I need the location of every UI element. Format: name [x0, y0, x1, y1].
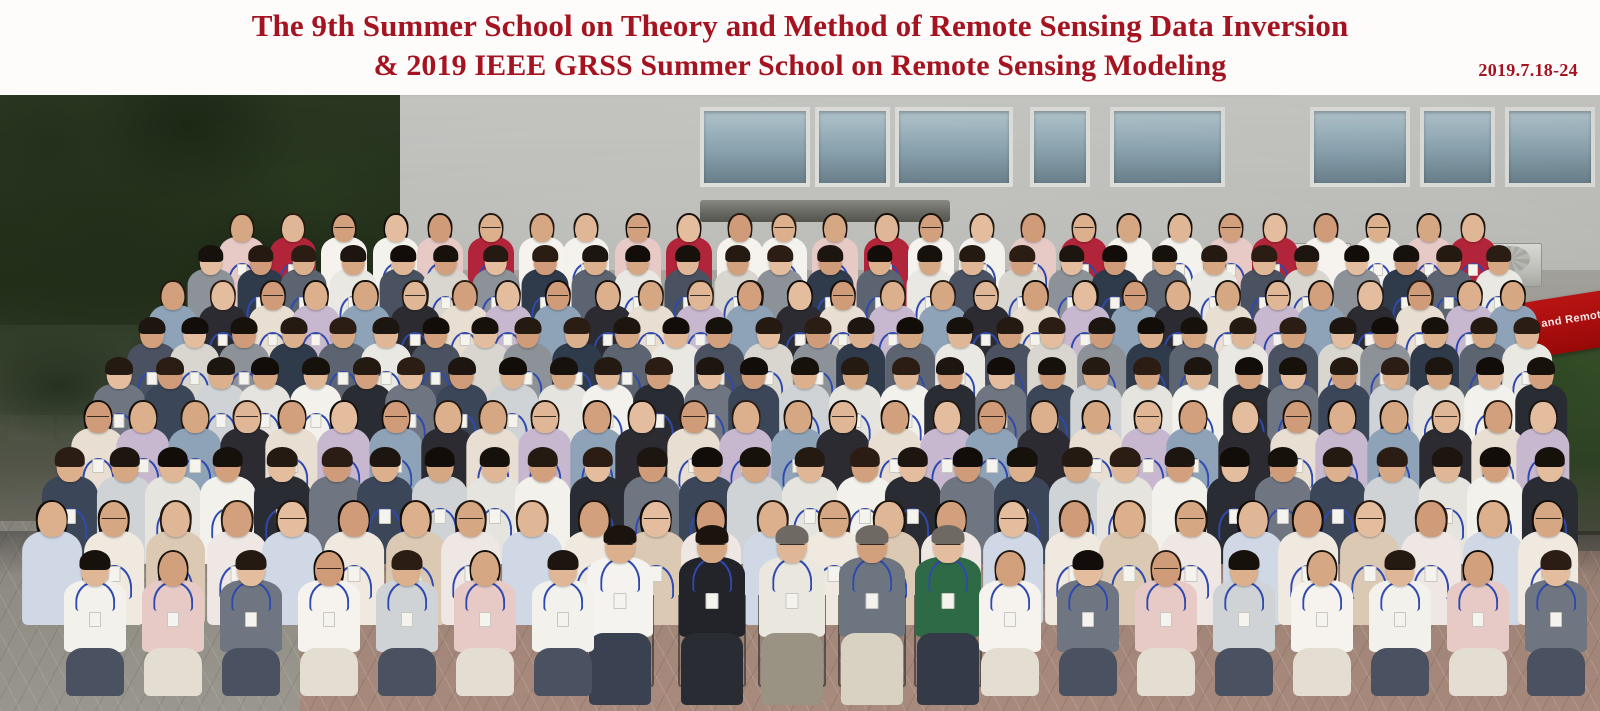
participant-hair — [1513, 317, 1540, 334]
participant-hair — [1372, 317, 1399, 334]
participant-hair — [725, 245, 751, 262]
participant-head — [575, 215, 597, 242]
participant-hair — [663, 317, 690, 334]
participant-hair — [156, 357, 184, 375]
participant-head — [1169, 215, 1191, 242]
title-block: The 9th Summer School on Theory and Meth… — [0, 6, 1600, 86]
name-badge — [479, 612, 491, 627]
crouching-participant-legs — [300, 648, 358, 696]
participant-hair — [1527, 357, 1555, 375]
participant-hair — [952, 447, 983, 467]
participant-head — [729, 215, 751, 242]
participant-head — [830, 402, 856, 433]
participant-hair — [850, 447, 881, 467]
participant-hair — [231, 317, 258, 334]
participant-hair — [157, 447, 188, 467]
eyeglasses — [1075, 227, 1094, 228]
participant-hair — [1184, 357, 1212, 375]
eyeglasses — [628, 227, 647, 228]
participant-hair — [946, 317, 973, 334]
eyeglasses — [1268, 295, 1288, 296]
participant-hair — [1421, 317, 1448, 334]
participant-head — [920, 215, 942, 242]
participant-head — [831, 282, 854, 310]
participant-head — [161, 502, 190, 537]
participant-hair — [1476, 357, 1504, 375]
participant-head — [1177, 502, 1206, 537]
participant-hair — [1294, 245, 1320, 262]
eyeglasses — [1000, 518, 1025, 519]
participant-hair — [1280, 317, 1307, 334]
participant-head — [1534, 502, 1563, 537]
participant-head — [1031, 402, 1057, 433]
participant-head — [681, 402, 707, 433]
participant-hair — [1088, 317, 1115, 334]
participant-head — [1359, 282, 1382, 310]
participant-head — [773, 215, 795, 242]
participant-hair — [390, 245, 416, 262]
crouching-participant-legs — [1527, 648, 1585, 696]
eyeglasses — [700, 544, 725, 545]
eyeglasses — [608, 544, 633, 545]
participant-head — [161, 282, 184, 310]
participant-hair — [675, 245, 701, 262]
participant-head — [678, 215, 700, 242]
participant-head — [998, 502, 1027, 537]
participant-hair — [582, 245, 608, 262]
participant-hair — [499, 357, 527, 375]
participant-head — [401, 502, 430, 537]
participant-hair — [768, 245, 794, 262]
eyeglasses — [87, 416, 109, 417]
participant-head — [532, 402, 558, 433]
crouching-participant-legs — [1059, 648, 1117, 696]
eyeglasses — [280, 518, 305, 519]
participant-head — [99, 502, 128, 537]
participant-head — [279, 402, 305, 433]
participant-head — [333, 215, 355, 242]
name-badge — [245, 612, 257, 627]
participant-head — [876, 215, 898, 242]
name-badge — [323, 612, 335, 627]
participant-hair — [936, 357, 964, 375]
participant-hair — [706, 317, 733, 334]
participant-head — [639, 282, 662, 310]
participant-hair — [1009, 245, 1035, 262]
participant-hair — [291, 245, 317, 262]
eyeglasses — [976, 295, 996, 296]
participant-head — [231, 215, 253, 242]
name-badge — [706, 593, 719, 609]
participant-head — [627, 215, 649, 242]
participant-head — [1220, 215, 1242, 242]
participant-head — [429, 215, 451, 242]
participant-hair — [433, 245, 459, 262]
participant-hair — [341, 245, 367, 262]
crouching-participant — [1367, 550, 1433, 690]
crouching-participant — [296, 550, 362, 690]
participant-hair — [1152, 245, 1178, 262]
crouching-participant — [1523, 550, 1589, 690]
participant-hair — [1133, 357, 1161, 375]
participant-hair — [740, 357, 768, 375]
seated-participant — [587, 525, 653, 695]
crouching-participant-legs — [1137, 648, 1195, 696]
seated-participant — [915, 525, 981, 695]
eyeglasses — [860, 544, 885, 545]
participant-hair — [514, 317, 541, 334]
participant-hair — [841, 357, 869, 375]
eyeglasses — [1368, 227, 1387, 228]
participant-hair — [847, 317, 874, 334]
eyeglasses — [690, 295, 710, 296]
participant-head — [1433, 402, 1459, 433]
participant-hair — [105, 357, 133, 375]
crouching-participant-head — [996, 552, 1024, 586]
participant-head — [1530, 402, 1556, 433]
participant-hair — [996, 317, 1023, 334]
name-badge — [1004, 612, 1016, 627]
participant-hair — [696, 357, 724, 375]
participant-hair — [1279, 357, 1307, 375]
participant-head — [496, 282, 519, 310]
participant-head — [1024, 282, 1047, 310]
seated-participant-legs — [761, 633, 823, 705]
participant-head — [1329, 402, 1355, 433]
participant-hair — [897, 317, 924, 334]
participant-hair — [422, 317, 449, 334]
participant-hair — [302, 357, 330, 375]
participant-head — [1264, 215, 1286, 242]
participant-head — [340, 502, 369, 537]
participant-head — [480, 402, 506, 433]
participant-head — [1417, 502, 1446, 537]
participant-hair — [613, 317, 640, 334]
participant-head — [629, 402, 655, 433]
participant-head — [385, 215, 407, 242]
participant-head — [1409, 282, 1432, 310]
participant-hair — [1322, 447, 1353, 467]
crouching-participant — [140, 550, 206, 690]
crouching-participant — [977, 550, 1043, 690]
participant-hair — [1394, 245, 1420, 262]
participant-hair — [1425, 357, 1453, 375]
participant-hair — [212, 447, 243, 467]
participant-hair — [1235, 357, 1263, 375]
participant-head — [974, 282, 997, 310]
participant-head — [480, 215, 502, 242]
participant-hair — [1062, 447, 1093, 467]
eyeglasses — [1222, 227, 1241, 228]
participant-head — [1166, 282, 1189, 310]
participant-hair — [625, 245, 651, 262]
eyeglasses — [1179, 518, 1204, 519]
participant-head — [824, 215, 846, 242]
seated-participant — [759, 525, 825, 695]
participant-head — [1124, 282, 1147, 310]
name-badge — [557, 612, 569, 627]
participant-hair — [372, 317, 399, 334]
seated-participant — [679, 525, 745, 695]
participant-hair — [425, 447, 456, 467]
crouching-participant-legs — [1449, 648, 1507, 696]
participant-head — [789, 282, 812, 310]
name-badge — [786, 593, 799, 609]
crouching-participant-legs — [1371, 648, 1429, 696]
name-badge — [942, 593, 955, 609]
participant-head — [1501, 282, 1524, 310]
participant-head — [404, 282, 427, 310]
crouching-participant — [1445, 550, 1511, 690]
participant-hair — [251, 357, 279, 375]
seated-participant-hair — [696, 525, 729, 544]
participant-hair — [138, 317, 165, 334]
poster-root: The 9th Summer School on Theory and Meth… — [0, 0, 1600, 711]
participant-head — [282, 215, 304, 242]
participant-hair — [1202, 245, 1228, 262]
group-photo: Geoscience and Remote Sensing Society — [0, 95, 1600, 711]
participant-hair — [207, 357, 235, 375]
crouching-participant-head — [1308, 552, 1336, 586]
participant-head — [85, 402, 111, 433]
participant-head — [931, 282, 954, 310]
participant-hair — [897, 447, 928, 467]
seated-participant-hair — [856, 525, 889, 544]
participant-hair — [198, 245, 224, 262]
eyeglasses — [458, 518, 483, 519]
participant-hair — [692, 447, 723, 467]
participant-hair — [483, 245, 509, 262]
eyeglasses — [1435, 416, 1457, 417]
participant-hair — [1059, 245, 1085, 262]
participant-hair — [1432, 447, 1463, 467]
participant-head — [1479, 502, 1508, 537]
eyeglasses — [405, 295, 425, 296]
participant-hair — [1480, 447, 1511, 467]
crouching-participant — [62, 550, 128, 690]
participant-hair — [791, 357, 819, 375]
crouching-participant-head — [471, 552, 499, 586]
participant-hair — [1230, 317, 1257, 334]
crouching-participant — [530, 550, 596, 690]
participant-hair — [917, 245, 943, 262]
participant-hair — [1267, 447, 1298, 467]
participant-hair — [1471, 317, 1498, 334]
participant-hair — [110, 447, 141, 467]
crouching-participant-legs — [456, 648, 514, 696]
participant-hair — [867, 245, 893, 262]
seated-participant — [839, 525, 905, 695]
event-date: 2019.7.18-24 — [1478, 60, 1578, 81]
eyeglasses — [833, 295, 853, 296]
participant-head — [1115, 502, 1144, 537]
participant-head — [211, 282, 234, 310]
participant-hair — [1039, 317, 1066, 334]
participant-head — [881, 282, 904, 310]
name-badge — [1472, 612, 1484, 627]
participant-head — [739, 282, 762, 310]
crouching-participant — [1211, 550, 1277, 690]
header-banner: The 9th Summer School on Theory and Meth… — [0, 0, 1600, 95]
crouching-participant-legs — [378, 648, 436, 696]
eyeglasses — [385, 416, 407, 417]
crouching-participant-hair — [80, 550, 111, 570]
eyeglasses — [921, 227, 940, 228]
participant-hair — [1486, 245, 1512, 262]
participant-head — [1118, 215, 1140, 242]
participant-hair — [805, 317, 832, 334]
participant-head — [971, 215, 993, 242]
participant-hair — [795, 447, 826, 467]
eyeglasses — [775, 227, 794, 228]
participant-hair — [637, 447, 668, 467]
participant-head — [1462, 215, 1484, 242]
crouching-participant-legs — [534, 648, 592, 696]
participant-hair — [1102, 245, 1128, 262]
participant-hair — [472, 317, 499, 334]
participant-hair — [1138, 317, 1165, 334]
participant-head — [934, 402, 960, 433]
participant-hair — [1377, 447, 1408, 467]
seated-participant-hair — [932, 525, 965, 544]
participant-head — [882, 402, 908, 433]
crouching-participant-legs — [66, 648, 124, 696]
participant-hair — [1165, 447, 1196, 467]
participant-hair — [55, 447, 86, 467]
participant-head — [1216, 282, 1239, 310]
participant-head — [223, 502, 252, 537]
participant-hair — [564, 317, 591, 334]
participant-head — [1074, 282, 1097, 310]
participant-head — [182, 402, 208, 433]
crouching-participant-legs — [981, 648, 1039, 696]
crouching-participant — [1289, 550, 1355, 690]
participant-hair — [817, 245, 843, 262]
participant-head — [1284, 402, 1310, 433]
eyeglasses — [317, 568, 341, 569]
crouching-participant-hair — [392, 550, 423, 570]
eyeglasses — [1536, 518, 1561, 519]
eyeglasses — [1286, 416, 1308, 417]
participant-head — [435, 402, 461, 433]
participant-hair — [248, 245, 274, 262]
eyeglasses — [644, 518, 669, 519]
crouching-participant-hair — [236, 550, 267, 570]
participant-head — [1266, 282, 1289, 310]
participant-hair — [330, 317, 357, 334]
participant-head — [261, 282, 284, 310]
participant-head — [584, 402, 610, 433]
participant-hair — [480, 447, 511, 467]
participant-hair — [1082, 357, 1110, 375]
participant-hair — [353, 357, 381, 375]
crowd-of-participants — [0, 95, 1600, 711]
participant-hair — [1180, 317, 1207, 334]
participant-head — [733, 402, 759, 433]
participant-head — [518, 502, 547, 537]
crouching-participant-legs — [1293, 648, 1351, 696]
participant-hair — [1330, 357, 1358, 375]
seated-participant-legs — [917, 633, 979, 705]
participant-hair — [280, 317, 307, 334]
crouching-participant-head — [1464, 552, 1492, 586]
participant-head — [1232, 402, 1258, 433]
eyeglasses — [263, 295, 283, 296]
name-badge — [866, 593, 879, 609]
seated-participant-hair — [776, 525, 809, 544]
participant-head — [546, 282, 569, 310]
crouching-participant-head — [315, 552, 343, 586]
participant-hair — [527, 447, 558, 467]
name-badge — [1082, 612, 1094, 627]
participant-hair — [322, 447, 353, 467]
crouching-participant-head — [1152, 552, 1180, 586]
eyeglasses — [83, 568, 107, 569]
participant-hair — [1007, 447, 1038, 467]
participant-hair — [1535, 447, 1566, 467]
participant-head — [1022, 215, 1044, 242]
participant-head — [979, 402, 1005, 433]
seated-participant-hair — [604, 525, 637, 544]
participant-hair — [1381, 357, 1409, 375]
eyeglasses — [683, 416, 705, 417]
crouching-participant-hair — [548, 550, 579, 570]
participant-head — [1073, 215, 1095, 242]
crouching-participant — [218, 550, 284, 690]
participant-hair — [645, 357, 673, 375]
participant-hair — [397, 357, 425, 375]
name-badge — [1550, 612, 1562, 627]
eyeglasses — [1154, 568, 1178, 569]
participant-head — [1293, 502, 1322, 537]
participant-hair — [533, 245, 559, 262]
participant-hair — [582, 447, 613, 467]
participant-head — [234, 402, 260, 433]
participant-head — [531, 215, 553, 242]
name-badge — [401, 612, 413, 627]
participant-hair — [267, 447, 298, 467]
crouching-participant-legs — [1215, 648, 1273, 696]
eyeglasses — [335, 227, 354, 228]
eyeglasses — [1388, 568, 1412, 569]
participant-head — [596, 282, 619, 310]
eyeglasses — [1125, 295, 1145, 296]
participant-head — [331, 402, 357, 433]
participant-head — [1083, 402, 1109, 433]
name-badge — [1160, 612, 1172, 627]
participant-head — [304, 282, 327, 310]
participant-hair — [1110, 447, 1141, 467]
participant-head — [1135, 402, 1161, 433]
title-line-1: The 9th Summer School on Theory and Meth… — [0, 6, 1600, 46]
participant-head — [1381, 402, 1407, 433]
participant-head — [38, 502, 67, 537]
participant-hair — [1344, 245, 1370, 262]
crouching-participant — [452, 550, 518, 690]
seated-participant-legs — [589, 633, 651, 705]
crouching-participant-hair — [1073, 550, 1104, 570]
participant-head — [1418, 215, 1440, 242]
participant-hair — [1220, 447, 1251, 467]
participant-hair — [1251, 245, 1277, 262]
participant-hair — [448, 357, 476, 375]
participant-head — [1367, 215, 1389, 242]
crouching-participant — [374, 550, 440, 690]
eyeglasses — [780, 544, 805, 545]
eyeglasses — [551, 568, 575, 569]
participant-hair — [550, 357, 578, 375]
participant-head — [1060, 502, 1089, 537]
